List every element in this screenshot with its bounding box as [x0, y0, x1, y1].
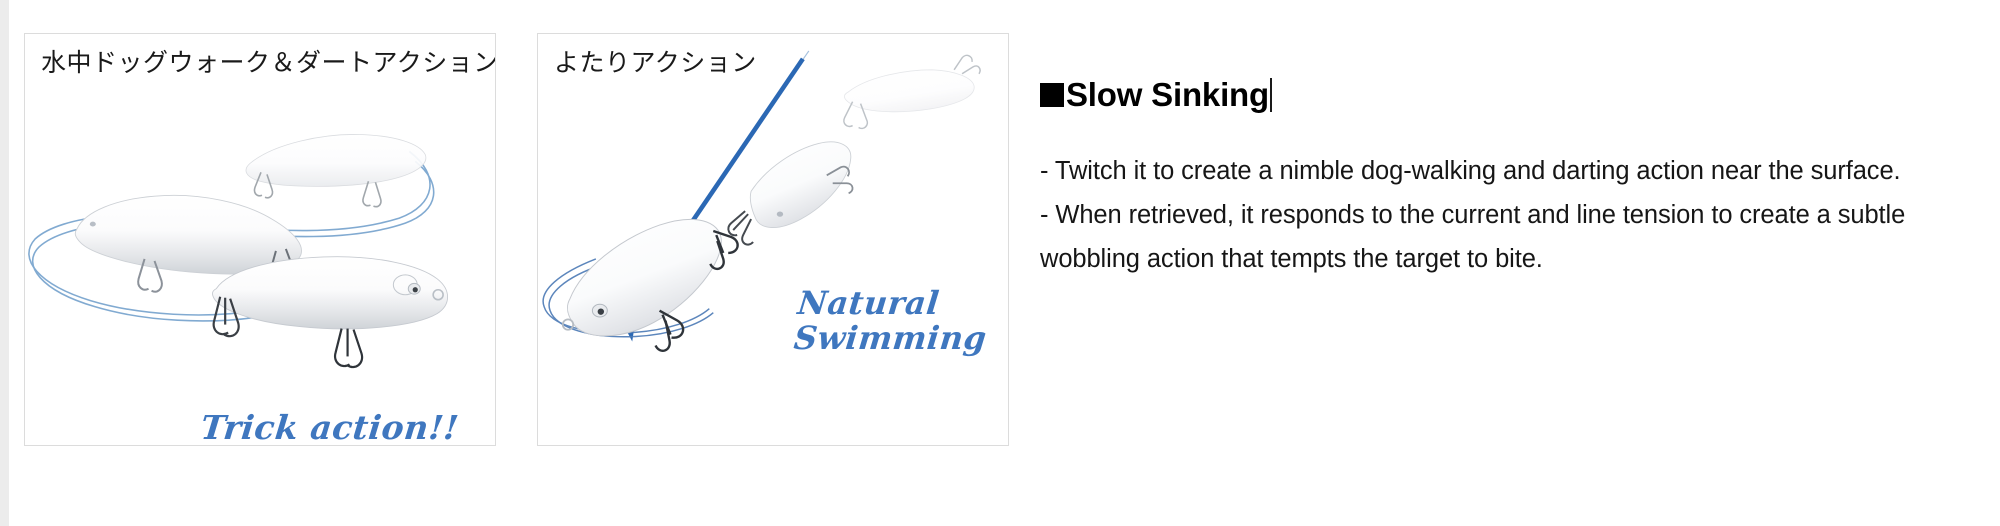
page-left-margin — [0, 0, 9, 526]
square-bullet-icon — [1040, 83, 1064, 107]
treble-hook — [214, 297, 239, 336]
trajectory-path-group — [29, 151, 434, 320]
lure-upper — [844, 55, 980, 128]
treble-hook — [335, 329, 362, 367]
natural-swimming-line-2: Swimming — [792, 321, 988, 356]
treble-hook — [255, 172, 273, 197]
lure-bottom — [212, 257, 447, 367]
slow-sinking-heading: Slow Sinking — [1040, 74, 1952, 115]
treble-hook — [138, 259, 162, 292]
treble-hook — [363, 181, 381, 206]
text-cursor-caret — [1270, 78, 1272, 112]
panel-underwater-dog-walk: 水中ドッグウォーク＆ダートアクション — [24, 33, 496, 446]
wobble-path-group — [543, 259, 713, 337]
slow-sinking-heading-text: Slow Sinking — [1066, 74, 1269, 115]
lure-eye — [408, 283, 420, 294]
description-body: - Twitch it to create a nimble dog-walki… — [1040, 115, 1952, 281]
description-column: Slow Sinking - Twitch it to create a nim… — [1040, 74, 1952, 281]
lure-middle — [75, 195, 301, 291]
treble-hook — [728, 211, 753, 244]
treble-hook — [954, 55, 980, 73]
natural-swimming-line-1: Natural — [796, 286, 992, 321]
treble-hook — [710, 231, 737, 269]
line-eyelet — [433, 290, 443, 300]
lure-lower — [563, 219, 738, 350]
lure-top — [246, 134, 426, 206]
lure-middle — [728, 142, 852, 245]
trick-action-label: Trick action!! — [199, 408, 461, 446]
treble-hook — [271, 249, 293, 279]
guide-line — [614, 51, 809, 333]
natural-swimming-label: Natural Swimming — [792, 286, 992, 355]
panel-1-title: 水中ドッグウォーク＆ダートアクション — [41, 48, 496, 78]
treble-hook — [656, 311, 684, 351]
line-eyelet — [563, 319, 573, 329]
panel-2-title: よたりアクション — [554, 48, 757, 78]
treble-hook — [844, 102, 867, 129]
page-root: 水中ドッグウォーク＆ダートアクション — [0, 0, 2000, 526]
panel-yotari-action: よたりアクション — [537, 33, 1009, 446]
sinking-lure-illustration — [538, 34, 1008, 445]
lure-eye — [90, 222, 96, 227]
lure-eye — [777, 212, 783, 217]
lure-eye — [592, 304, 607, 317]
descending-arrow — [634, 59, 803, 308]
treble-hook — [827, 167, 853, 194]
underwater-dog-walk-lure-illustration — [25, 34, 495, 445]
